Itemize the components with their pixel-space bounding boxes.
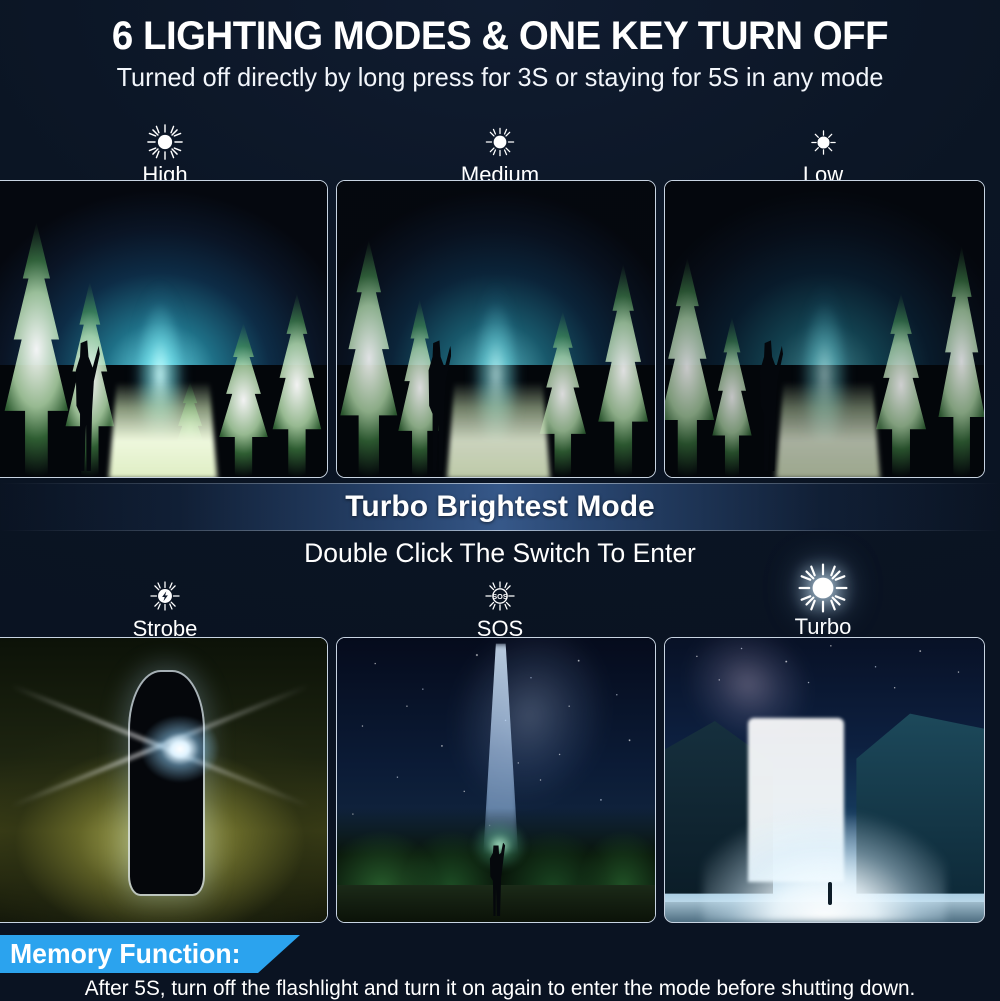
forest-night-scene bbox=[0, 181, 327, 477]
mode-strobe: Strobe bbox=[75, 576, 255, 640]
infographic-page: 6 LIGHTING MODES & ONE KEY TURN OFF Turn… bbox=[0, 0, 1000, 1000]
mode-high: High bbox=[75, 122, 255, 186]
sun-medium-icon bbox=[410, 122, 590, 162]
starry-beam-scene bbox=[337, 638, 655, 922]
turbo-banner-title: Turbo Brightest Mode bbox=[0, 490, 1000, 524]
mode-low: Low bbox=[733, 122, 913, 186]
photo-high bbox=[0, 180, 328, 478]
photo-medium bbox=[336, 180, 656, 478]
banner-rule-bottom bbox=[0, 530, 1000, 531]
sun-sos-icon: SOS bbox=[410, 576, 590, 616]
sun-bolt-icon bbox=[75, 576, 255, 616]
page-subtitle: Turned off directly by long press for 3S… bbox=[15, 62, 985, 93]
mode-sos: SOS SOS bbox=[410, 576, 590, 640]
forest-night-scene bbox=[337, 181, 655, 477]
strobe-flare-scene bbox=[0, 638, 327, 922]
mode-label: Turbo bbox=[733, 616, 913, 638]
waterfall-night-scene bbox=[665, 638, 984, 922]
memory-function-title: Memory Function: bbox=[10, 938, 241, 970]
svg-text:SOS: SOS bbox=[492, 592, 508, 601]
photo-turbo bbox=[664, 637, 985, 923]
banner-rule-top bbox=[0, 483, 1000, 484]
forest-night-scene bbox=[665, 181, 984, 477]
photo-sos bbox=[336, 637, 656, 923]
mode-medium: Medium bbox=[410, 122, 590, 186]
photo-strobe bbox=[0, 637, 328, 923]
sun-dim-icon bbox=[733, 122, 913, 162]
sun-turbo-icon bbox=[733, 562, 913, 614]
mode-turbo: Turbo bbox=[733, 562, 913, 638]
page-title: 6 LIGHTING MODES & ONE KEY TURN OFF bbox=[20, 14, 980, 59]
sun-bright-icon bbox=[75, 122, 255, 162]
memory-function-description: After 5S, turn off the flashlight and tu… bbox=[5, 977, 995, 1001]
photo-low bbox=[664, 180, 985, 478]
